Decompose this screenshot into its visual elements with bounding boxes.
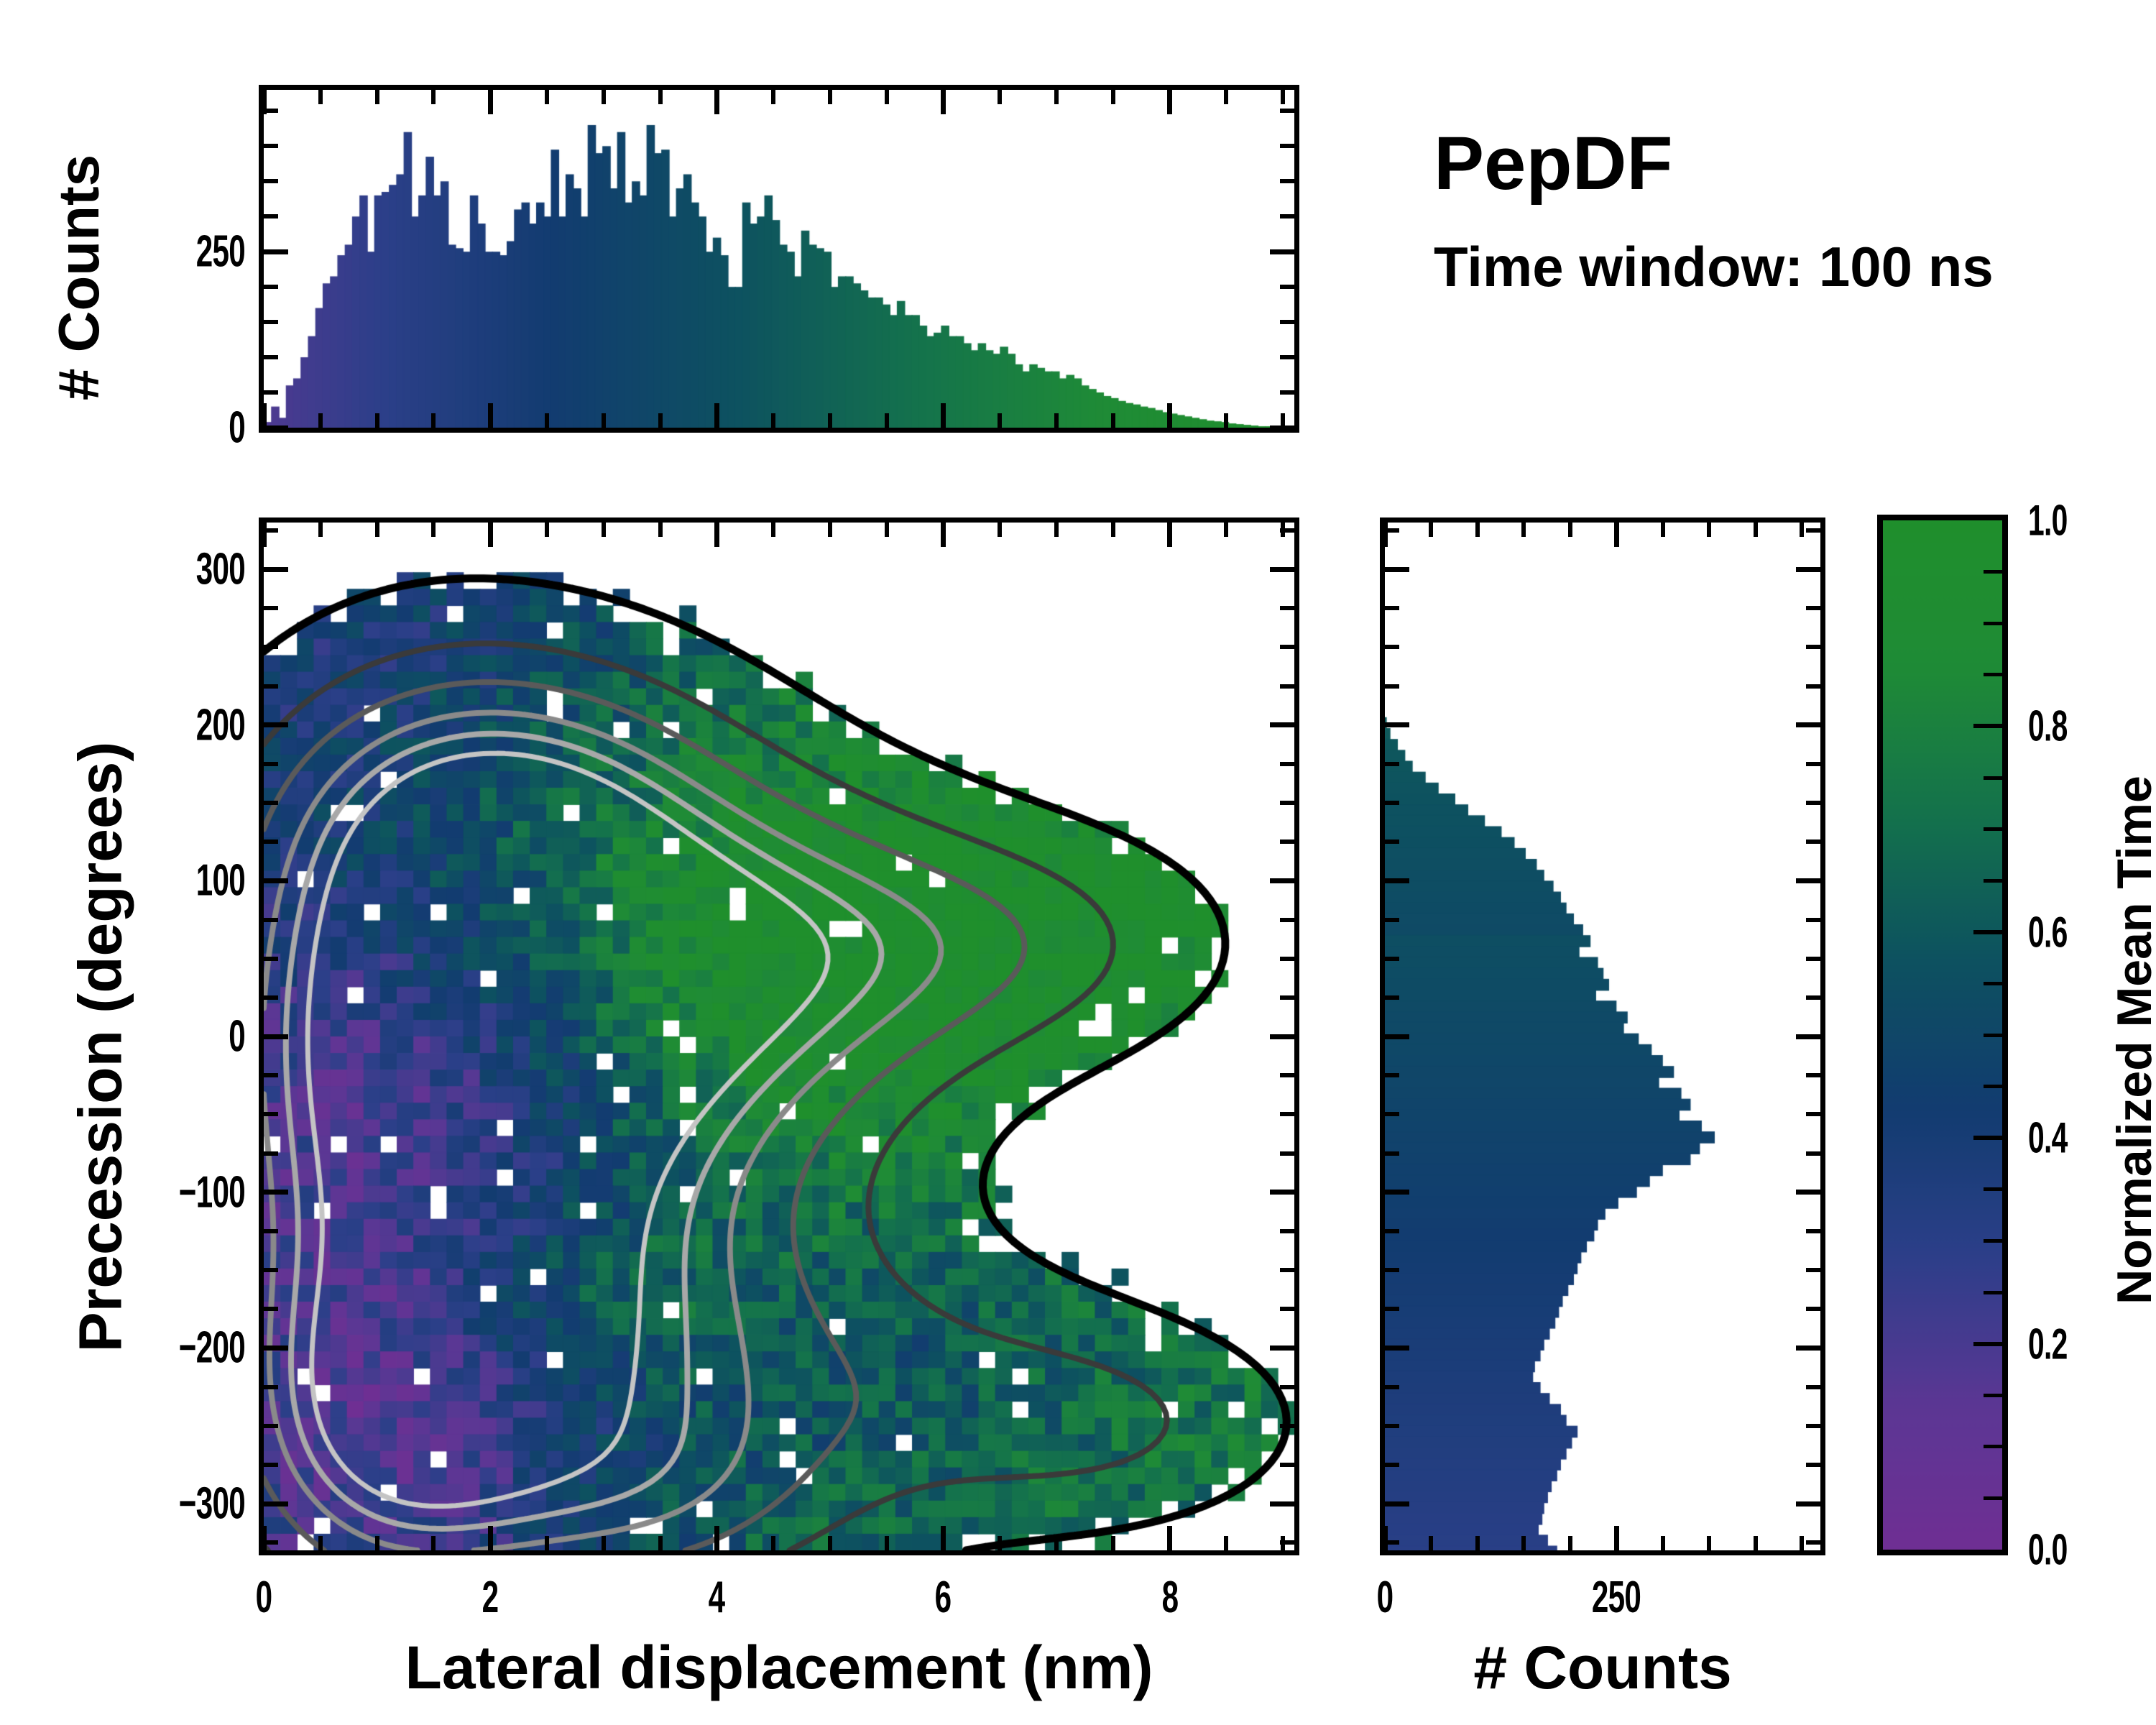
- axis-tick: [1167, 90, 1172, 114]
- axis-tick: [602, 90, 606, 104]
- axis-tick: [1568, 1536, 1572, 1550]
- axis-tick: [1984, 1034, 2002, 1037]
- axis-tick: [1806, 645, 1820, 649]
- axis-tick: [264, 1501, 288, 1506]
- axis-tick: [1385, 1540, 1399, 1545]
- main-x-tick-label: 0: [252, 1572, 275, 1623]
- axis-tick: [1385, 606, 1399, 610]
- axis-tick: [1707, 1536, 1711, 1550]
- axis-tick: [1385, 1073, 1399, 1077]
- right-x-tick-label: 250: [1580, 1572, 1652, 1623]
- axis-tick: [264, 567, 288, 572]
- axis-tick: [1280, 1151, 1294, 1156]
- axis-tick: [1984, 1085, 2002, 1088]
- axis-tick: [375, 523, 379, 537]
- axis-tick: [1806, 1151, 1820, 1156]
- axis-tick: [1111, 1536, 1115, 1550]
- axis-tick: [1521, 523, 1526, 537]
- axis-tick: [488, 90, 493, 114]
- top-y-tick-label: 250: [173, 226, 245, 277]
- axis-tick: [1280, 606, 1294, 610]
- axis-tick: [1280, 179, 1294, 183]
- axis-tick: [602, 523, 606, 537]
- axis-tick: [545, 523, 549, 537]
- axis-tick: [1385, 918, 1399, 922]
- axis-tick: [1385, 567, 1409, 572]
- axis-tick: [1270, 567, 1294, 572]
- colorbar-tick-label: 0.4: [2028, 1113, 2086, 1163]
- axis-tick: [431, 90, 436, 104]
- axis-tick: [264, 1345, 288, 1351]
- axis-tick: [1054, 1536, 1059, 1550]
- axis-tick: [1806, 1424, 1820, 1428]
- axis-tick: [264, 1190, 288, 1195]
- axis-tick: [1984, 827, 2002, 831]
- axis-tick: [1385, 1385, 1399, 1389]
- axis-tick: [658, 523, 663, 537]
- axis-tick: [1270, 722, 1294, 727]
- axis-tick: [1270, 425, 1294, 431]
- axis-tick: [264, 839, 278, 844]
- axis-tick: [1385, 1345, 1409, 1351]
- axis-tick: [1806, 801, 1820, 805]
- axis-tick: [1385, 1501, 1409, 1506]
- axis-tick: [264, 762, 278, 766]
- axis-tick: [1984, 1394, 2002, 1397]
- axis-tick: [1280, 214, 1294, 218]
- axis-tick: [771, 523, 775, 537]
- axis-tick: [1800, 1536, 1804, 1550]
- axis-tick: [1280, 320, 1294, 324]
- axis-tick: [1385, 645, 1399, 649]
- axis-tick: [264, 214, 278, 218]
- axis-tick: [1280, 1540, 1294, 1545]
- axis-tick: [1280, 957, 1294, 961]
- axis-tick: [264, 606, 278, 610]
- axis-tick: [1224, 523, 1228, 537]
- axis-tick: [1280, 528, 1294, 533]
- axis-tick: [1270, 1501, 1294, 1506]
- axis-tick: [1984, 673, 2002, 676]
- axis-tick: [1984, 1496, 2002, 1500]
- main-y-tick-label: 0: [221, 1011, 245, 1062]
- axis-tick: [998, 1536, 1002, 1550]
- axis-tick: [1280, 390, 1294, 395]
- axis-tick: [1806, 918, 1820, 922]
- axis-tick: [658, 90, 663, 104]
- axis-tick: [1754, 1536, 1758, 1550]
- main-y-tick-label: 100: [173, 855, 245, 906]
- axis-tick: [264, 1307, 278, 1311]
- axis-tick: [1984, 1239, 2002, 1243]
- axis-tick: [1806, 1463, 1820, 1467]
- main-x-tick-label: 4: [705, 1572, 729, 1623]
- axis-tick: [828, 90, 832, 104]
- right-histogram-panel: [1380, 517, 1825, 1555]
- axis-tick: [1280, 109, 1294, 113]
- axis-tick: [1806, 1073, 1820, 1077]
- axis-tick: [1984, 1187, 2002, 1191]
- top-histogram-ylabel: # Counts: [46, 91, 112, 464]
- axis-tick: [1280, 1073, 1294, 1077]
- colorbar-tick-label: 0.2: [2028, 1319, 2086, 1368]
- axis-tick: [1385, 995, 1399, 1000]
- main-ylabel: Precession (degrees): [66, 530, 136, 1565]
- figure-canvas: PepDF Time window: 100 ns 0250 # Counts …: [0, 0, 2156, 1725]
- axis-tick: [1054, 523, 1059, 537]
- axis-tick: [1385, 839, 1399, 844]
- axis-tick: [264, 1073, 278, 1077]
- axis-tick: [1111, 413, 1115, 428]
- axis-tick: [1661, 1536, 1665, 1550]
- heatmap-contour-canvas: [264, 523, 1294, 1550]
- axis-tick: [714, 1526, 719, 1550]
- main-y-tick-label: 200: [173, 699, 245, 750]
- axis-tick: [714, 523, 719, 547]
- axis-tick: [1984, 1445, 2002, 1448]
- axis-tick: [545, 413, 549, 428]
- axis-tick: [264, 1540, 278, 1545]
- axis-tick: [262, 523, 267, 547]
- axis-tick: [1280, 285, 1294, 289]
- page-title: PepDF: [1434, 126, 1994, 201]
- axis-tick: [1167, 1526, 1172, 1550]
- axis-tick: [1973, 1342, 2002, 1346]
- axis-tick: [1385, 1268, 1399, 1272]
- main-xlabel: Lateral displacement (nm): [259, 1633, 1299, 1703]
- axis-tick: [1796, 1345, 1820, 1351]
- axis-tick: [1984, 776, 2002, 780]
- axis-tick: [998, 523, 1002, 537]
- axis-tick: [885, 413, 889, 428]
- axis-tick: [1429, 1536, 1433, 1550]
- axis-tick: [1167, 523, 1172, 547]
- axis-tick: [1806, 1385, 1820, 1389]
- axis-tick: [1385, 684, 1399, 689]
- main-y-tick-label: −300: [147, 1478, 245, 1529]
- axis-tick: [1385, 801, 1399, 805]
- axis-tick: [264, 390, 278, 395]
- axis-tick: [1280, 1268, 1294, 1272]
- axis-tick: [1280, 1385, 1294, 1389]
- axis-tick: [1280, 355, 1294, 359]
- axis-tick: [264, 109, 278, 113]
- axis-tick: [1984, 622, 2002, 625]
- axis-tick: [1806, 1307, 1820, 1311]
- axis-tick: [1806, 762, 1820, 766]
- axis-tick: [1385, 1034, 1409, 1039]
- axis-tick: [1661, 523, 1665, 537]
- axis-tick: [262, 1526, 267, 1550]
- colorbar-tick-label: 0.8: [2028, 701, 2086, 751]
- axis-tick: [941, 90, 946, 114]
- axis-tick: [264, 425, 288, 431]
- axis-tick: [1383, 1526, 1388, 1550]
- axis-tick: [1800, 523, 1804, 537]
- axis-tick: [1385, 722, 1409, 727]
- axis-tick: [1385, 528, 1399, 533]
- axis-tick: [1385, 878, 1409, 883]
- axis-tick: [885, 90, 889, 104]
- axis-tick: [1385, 1190, 1409, 1195]
- axis-tick: [1280, 801, 1294, 805]
- axis-tick: [262, 403, 267, 428]
- axis-tick: [1224, 413, 1228, 428]
- axis-tick: [1281, 90, 1285, 104]
- top-y-tick-label: 0: [221, 402, 245, 454]
- axis-tick: [714, 90, 719, 114]
- axis-tick: [1385, 1463, 1399, 1467]
- axis-tick: [488, 1526, 493, 1550]
- axis-tick: [1614, 523, 1619, 547]
- axis-tick: [998, 90, 1002, 104]
- axis-tick: [431, 523, 436, 537]
- axis-tick: [264, 878, 288, 883]
- axis-tick: [1796, 722, 1820, 727]
- right-histogram-bars: [1385, 523, 1820, 1550]
- axis-tick: [602, 413, 606, 428]
- main-x-tick-label: 6: [931, 1572, 955, 1623]
- right-x-tick-label: 0: [1373, 1572, 1396, 1623]
- axis-tick: [1270, 249, 1294, 254]
- axis-tick: [828, 1536, 832, 1550]
- axis-tick: [1385, 957, 1399, 961]
- axis-tick: [1796, 1190, 1820, 1195]
- axis-tick: [828, 413, 832, 428]
- axis-tick: [264, 722, 288, 727]
- axis-tick: [1280, 1229, 1294, 1233]
- axis-tick: [264, 995, 278, 1000]
- axis-tick: [1475, 523, 1480, 537]
- axis-tick: [1280, 645, 1294, 649]
- axis-tick: [1429, 523, 1433, 537]
- main-y-tick-label: 300: [173, 544, 245, 595]
- axis-tick: [1521, 1536, 1526, 1550]
- axis-tick: [1806, 995, 1820, 1000]
- axis-tick: [1385, 1424, 1399, 1428]
- axis-tick: [771, 1536, 775, 1550]
- axis-tick: [1385, 1307, 1399, 1311]
- axis-tick: [658, 1536, 663, 1550]
- axis-tick: [375, 413, 379, 428]
- axis-tick: [1806, 528, 1820, 533]
- axis-tick: [1385, 1229, 1399, 1233]
- colorbar-tick-label: 0.6: [2028, 907, 2086, 957]
- axis-tick: [264, 320, 278, 324]
- axis-tick: [941, 403, 946, 428]
- axis-tick: [264, 1268, 278, 1272]
- axis-tick: [1568, 523, 1572, 537]
- axis-tick: [488, 403, 493, 428]
- axis-tick: [1280, 684, 1294, 689]
- axis-tick: [771, 90, 775, 104]
- axis-tick: [1280, 1463, 1294, 1467]
- axis-tick: [1806, 957, 1820, 961]
- top-histogram-panel: [259, 85, 1299, 433]
- axis-tick: [375, 1536, 379, 1550]
- axis-tick: [264, 355, 278, 359]
- axis-tick: [1280, 918, 1294, 922]
- axis-tick: [264, 1112, 278, 1116]
- axis-tick: [488, 523, 493, 547]
- axis-tick: [431, 413, 436, 428]
- title-block: PepDF Time window: 100 ns: [1434, 126, 1994, 295]
- axis-tick: [1167, 403, 1172, 428]
- axis-tick: [1806, 1112, 1820, 1116]
- axis-tick: [1280, 1424, 1294, 1428]
- axis-tick: [885, 523, 889, 537]
- top-histogram-bars: [264, 90, 1294, 428]
- main-heatmap-panel: [259, 517, 1299, 1555]
- colorbar-tick-label: 1.0: [2028, 496, 2086, 546]
- axis-tick: [1984, 570, 2002, 574]
- axis-tick: [1984, 879, 2002, 883]
- axis-tick: [264, 1463, 278, 1467]
- axis-tick: [545, 90, 549, 104]
- axis-tick: [1796, 878, 1820, 883]
- axis-tick: [1224, 1536, 1228, 1550]
- axis-tick: [1385, 1112, 1399, 1116]
- axis-tick: [1806, 839, 1820, 844]
- right-histogram-xlabel: # Counts: [1380, 1633, 1825, 1703]
- axis-tick: [318, 90, 323, 104]
- axis-tick: [318, 413, 323, 428]
- axis-tick: [318, 523, 323, 537]
- axis-tick: [1270, 1345, 1294, 1351]
- axis-tick: [828, 523, 832, 537]
- main-y-tick-label: −100: [147, 1167, 245, 1218]
- axis-tick: [1280, 762, 1294, 766]
- axis-tick: [1111, 523, 1115, 537]
- axis-tick: [1707, 523, 1711, 537]
- axis-tick: [1806, 1229, 1820, 1233]
- axis-tick: [264, 957, 278, 961]
- main-x-tick-label: 8: [1158, 1572, 1181, 1623]
- axis-tick: [1385, 762, 1399, 766]
- axis-tick: [1973, 1136, 2002, 1140]
- axis-tick: [771, 413, 775, 428]
- axis-tick: [714, 403, 719, 428]
- axis-tick: [1270, 878, 1294, 883]
- axis-tick: [264, 1385, 278, 1389]
- axis-tick: [1973, 724, 2002, 728]
- axis-tick: [375, 90, 379, 104]
- axis-tick: [318, 1536, 323, 1550]
- axis-tick: [264, 684, 278, 689]
- axis-tick: [1280, 144, 1294, 148]
- axis-tick: [264, 528, 278, 533]
- axis-tick: [1796, 567, 1820, 572]
- axis-tick: [1796, 1034, 1820, 1039]
- axis-tick: [602, 1536, 606, 1550]
- axis-tick: [264, 645, 278, 649]
- axis-tick: [658, 413, 663, 428]
- axis-tick: [1383, 523, 1388, 547]
- axis-tick: [885, 1536, 889, 1550]
- axis-tick: [264, 1151, 278, 1156]
- axis-tick: [1270, 1190, 1294, 1195]
- main-x-tick-label: 2: [478, 1572, 502, 1623]
- axis-tick: [1614, 1526, 1619, 1550]
- axis-tick: [1280, 1307, 1294, 1311]
- axis-tick: [1984, 1291, 2002, 1294]
- colorbar-tick-label: 0.0: [2028, 1525, 2086, 1575]
- axis-tick: [1280, 995, 1294, 1000]
- axis-tick: [1054, 413, 1059, 428]
- axis-tick: [431, 1536, 436, 1550]
- axis-tick: [941, 1526, 946, 1550]
- axis-tick: [1806, 684, 1820, 689]
- axis-tick: [264, 1424, 278, 1428]
- axis-tick: [1280, 839, 1294, 844]
- axis-tick: [1054, 90, 1059, 104]
- axis-tick: [264, 249, 288, 254]
- axis-tick: [1111, 90, 1115, 104]
- axis-tick: [1224, 90, 1228, 104]
- axis-tick: [264, 144, 278, 148]
- colorbar-label: Normalized Mean Time: [2106, 523, 2156, 1558]
- axis-tick: [264, 1034, 288, 1039]
- axis-tick: [1973, 930, 2002, 934]
- axis-tick: [264, 179, 278, 183]
- axis-tick: [1385, 1151, 1399, 1156]
- axis-tick: [1270, 1034, 1294, 1039]
- axis-tick: [545, 1536, 549, 1550]
- axis-tick: [264, 1229, 278, 1233]
- axis-tick: [1280, 1112, 1294, 1116]
- axis-tick: [1806, 1268, 1820, 1272]
- axis-tick: [1754, 523, 1758, 537]
- axis-tick: [1475, 1536, 1480, 1550]
- figure-subtitle: Time window: 100 ns: [1434, 239, 1994, 295]
- axis-tick: [264, 285, 278, 289]
- axis-tick: [1984, 982, 2002, 985]
- main-y-tick-label: −200: [147, 1322, 245, 1374]
- axis-tick: [264, 801, 278, 805]
- axis-tick: [264, 918, 278, 922]
- axis-tick: [1806, 1540, 1820, 1545]
- axis-tick: [941, 523, 946, 547]
- axis-tick: [1806, 606, 1820, 610]
- axis-tick: [998, 413, 1002, 428]
- axis-tick: [1796, 1501, 1820, 1506]
